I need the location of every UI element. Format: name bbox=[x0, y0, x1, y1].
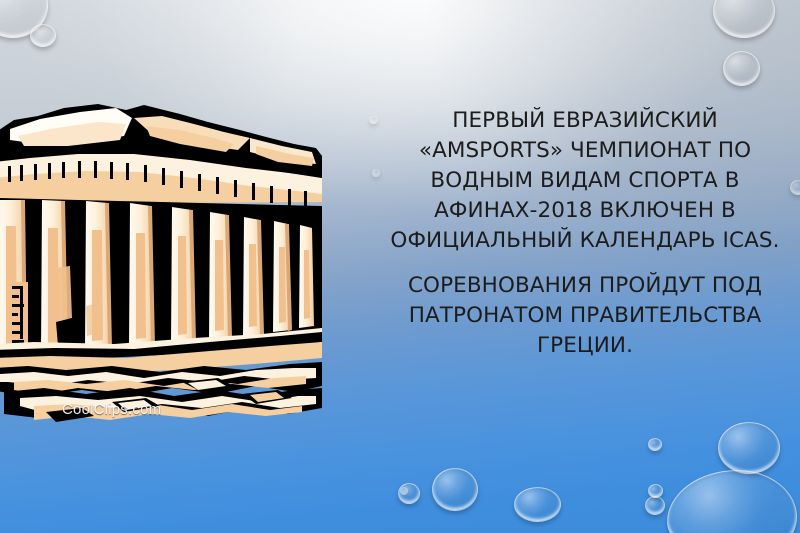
subtext-paragraph: СОРЕВНОВАНИЯ ПРОЙДУТ ПОД ПАТРОНАТОМ ПРАВ… bbox=[380, 271, 790, 361]
presentation-slide: CoolClips.com ПЕРВЫЙ ЕВРАЗИЙСКИЙ «AMSPOR… bbox=[0, 0, 800, 533]
headline-paragraph: ПЕРВЫЙ ЕВРАЗИЙСКИЙ «AMSPORTS» ЧЕМПИОНАТ … bbox=[380, 106, 790, 256]
parthenon-illustration bbox=[0, 86, 324, 426]
slide-text-block: ПЕРВЫЙ ЕВРАЗИЙСКИЙ «AMSPORTS» ЧЕМПИОНАТ … bbox=[380, 106, 790, 361]
